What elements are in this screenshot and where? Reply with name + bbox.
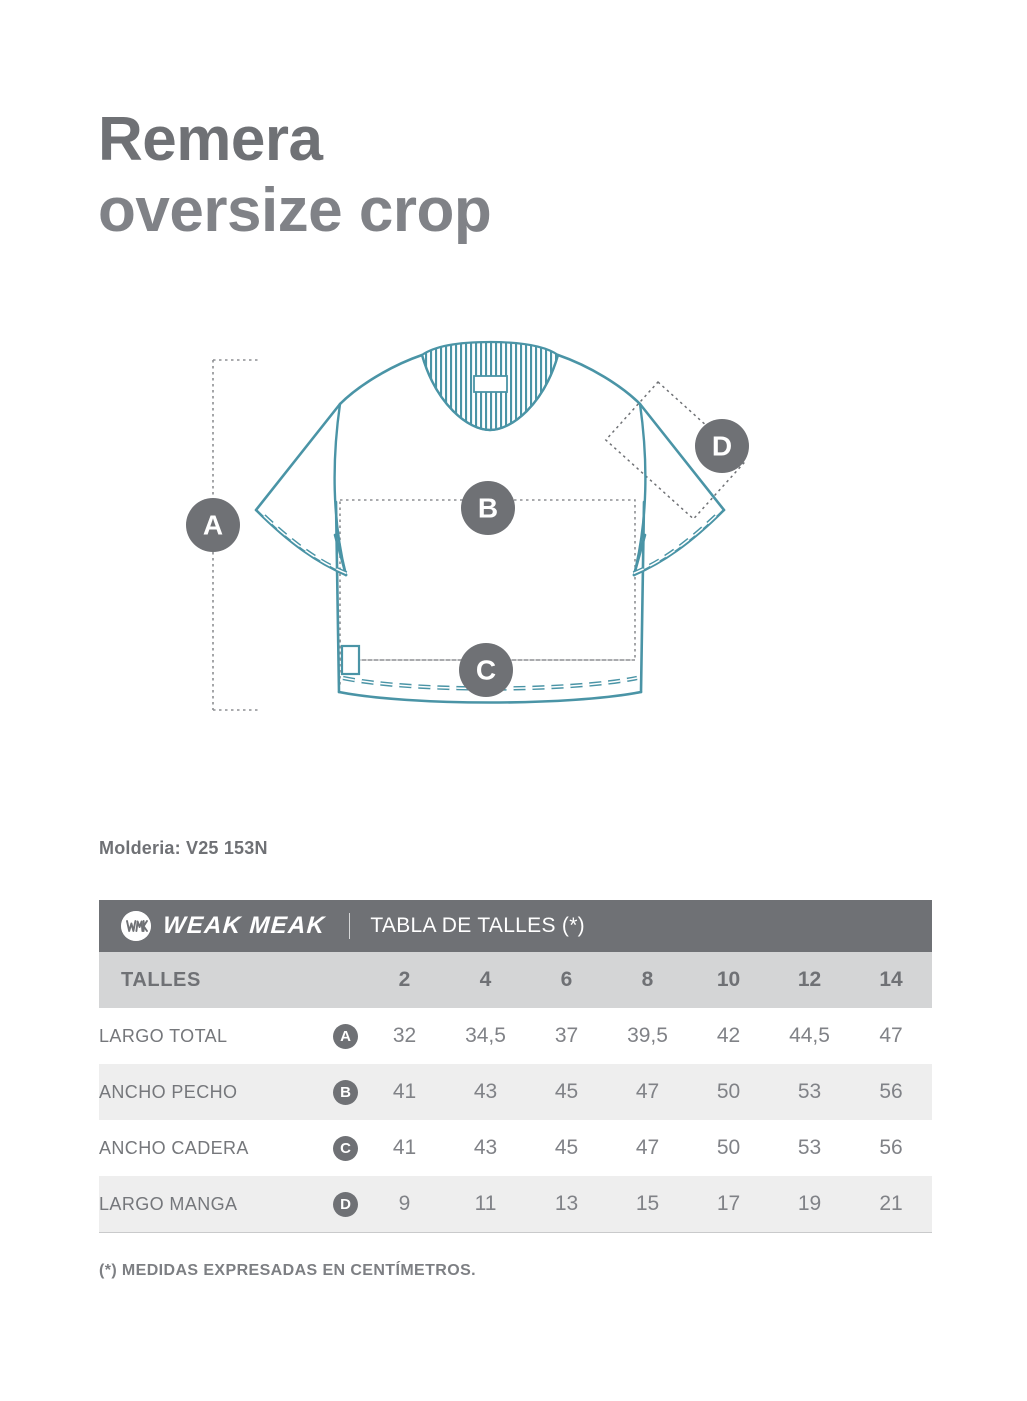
neck-label-tag bbox=[474, 376, 507, 392]
garment-illustration: A B C D bbox=[150, 320, 830, 760]
header-size-10: 10 bbox=[688, 952, 769, 1008]
header-size-12: 12 bbox=[769, 952, 850, 1008]
page-title-line-1: Remera bbox=[98, 104, 698, 175]
size-table-grid: TALLES 2 4 6 8 10 12 14 LARGO TOTAL A 32… bbox=[99, 952, 932, 1232]
header-talles-label: TALLES bbox=[99, 952, 364, 1008]
cell-largo-total-2: 32 bbox=[364, 1008, 445, 1064]
header-size-14: 14 bbox=[850, 952, 932, 1008]
table-header-row: TALLES 2 4 6 8 10 12 14 bbox=[99, 952, 932, 1008]
callout-badge-b: B bbox=[461, 481, 515, 535]
cell-largo-manga-4: 11 bbox=[445, 1176, 526, 1232]
cell-largo-manga-14: 21 bbox=[850, 1176, 932, 1232]
footnote: (*) MEDIDAS EXPRESADAS EN CENTÍMETROS. bbox=[99, 1262, 476, 1280]
callout-badge-a-label: A bbox=[203, 510, 223, 541]
table-row: ANCHO CADERA C 41 43 45 47 50 53 56 bbox=[99, 1120, 932, 1176]
header-size-2: 2 bbox=[364, 952, 445, 1008]
cell-largo-total-4: 34,5 bbox=[445, 1008, 526, 1064]
cell-ancho-pecho-10: 50 bbox=[688, 1064, 769, 1120]
callout-badge-d-label: D bbox=[712, 431, 732, 462]
cell-ancho-pecho-4: 43 bbox=[445, 1064, 526, 1120]
row-badge-d: D bbox=[333, 1192, 358, 1217]
cell-ancho-cadera-4: 43 bbox=[445, 1120, 526, 1176]
callout-badge-c: C bbox=[459, 643, 513, 697]
row-label-largo-manga: LARGO MANGA bbox=[99, 1194, 237, 1215]
cell-largo-total-10: 42 bbox=[688, 1008, 769, 1064]
cell-largo-manga-6: 13 bbox=[526, 1176, 607, 1232]
table-subtitle: TABLA DE TALLES (*) bbox=[370, 914, 585, 938]
cell-ancho-pecho-12: 53 bbox=[769, 1064, 850, 1120]
callout-badge-b-label: B bbox=[478, 493, 498, 524]
cell-ancho-pecho-8: 47 bbox=[607, 1064, 688, 1120]
header-size-4: 4 bbox=[445, 952, 526, 1008]
cell-ancho-pecho-2: 41 bbox=[364, 1064, 445, 1120]
cell-ancho-cadera-14: 56 bbox=[850, 1120, 932, 1176]
cell-largo-manga-2: 9 bbox=[364, 1176, 445, 1232]
callout-badge-a: A bbox=[186, 498, 240, 552]
page-title-line-2: oversize crop bbox=[98, 175, 698, 246]
cell-ancho-cadera-10: 50 bbox=[688, 1120, 769, 1176]
table-row: LARGO TOTAL A 32 34,5 37 39,5 42 44,5 47 bbox=[99, 1008, 932, 1064]
table-row: ANCHO PECHO B 41 43 45 47 50 53 56 bbox=[99, 1064, 932, 1120]
brand-name: WEAK MEAK bbox=[162, 912, 326, 940]
cell-ancho-pecho-6: 45 bbox=[526, 1064, 607, 1120]
cell-largo-total-12: 44,5 bbox=[769, 1008, 850, 1064]
header-size-8: 8 bbox=[607, 952, 688, 1008]
row-label-ancho-cadera: ANCHO CADERA bbox=[99, 1138, 249, 1159]
cell-ancho-cadera-2: 41 bbox=[364, 1120, 445, 1176]
cell-ancho-cadera-12: 53 bbox=[769, 1120, 850, 1176]
cell-ancho-pecho-14: 56 bbox=[850, 1064, 932, 1120]
page-title: Remera oversize crop bbox=[98, 104, 698, 247]
banner-divider bbox=[349, 913, 350, 939]
cell-ancho-cadera-6: 45 bbox=[526, 1120, 607, 1176]
size-table: WEAK MEAK TABLA DE TALLES (*) TALLES 2 4… bbox=[99, 900, 932, 1233]
table-row: LARGO MANGA D 9 11 13 15 17 19 21 bbox=[99, 1176, 932, 1232]
brand-logo-icon bbox=[121, 911, 151, 941]
cell-largo-manga-10: 17 bbox=[688, 1176, 769, 1232]
row-badge-b: B bbox=[333, 1080, 358, 1105]
row-label-ancho-pecho: ANCHO PECHO bbox=[99, 1082, 237, 1103]
cell-largo-total-8: 39,5 bbox=[607, 1008, 688, 1064]
cell-largo-total-6: 37 bbox=[526, 1008, 607, 1064]
row-badge-a: A bbox=[333, 1024, 358, 1049]
callout-badge-d: D bbox=[695, 419, 749, 473]
table-banner: WEAK MEAK TABLA DE TALLES (*) bbox=[99, 900, 932, 952]
cell-ancho-cadera-8: 47 bbox=[607, 1120, 688, 1176]
table-bottom-rule bbox=[99, 1232, 932, 1233]
row-label-largo-total: LARGO TOTAL bbox=[99, 1026, 227, 1047]
side-label-tab bbox=[342, 646, 359, 674]
header-size-6: 6 bbox=[526, 952, 607, 1008]
row-badge-c: C bbox=[333, 1136, 358, 1161]
cell-largo-manga-12: 19 bbox=[769, 1176, 850, 1232]
callout-badge-c-label: C bbox=[476, 655, 496, 686]
cell-largo-manga-8: 15 bbox=[607, 1176, 688, 1232]
molderia-label: Molderia: V25 153N bbox=[99, 838, 268, 859]
cell-largo-total-14: 47 bbox=[850, 1008, 932, 1064]
